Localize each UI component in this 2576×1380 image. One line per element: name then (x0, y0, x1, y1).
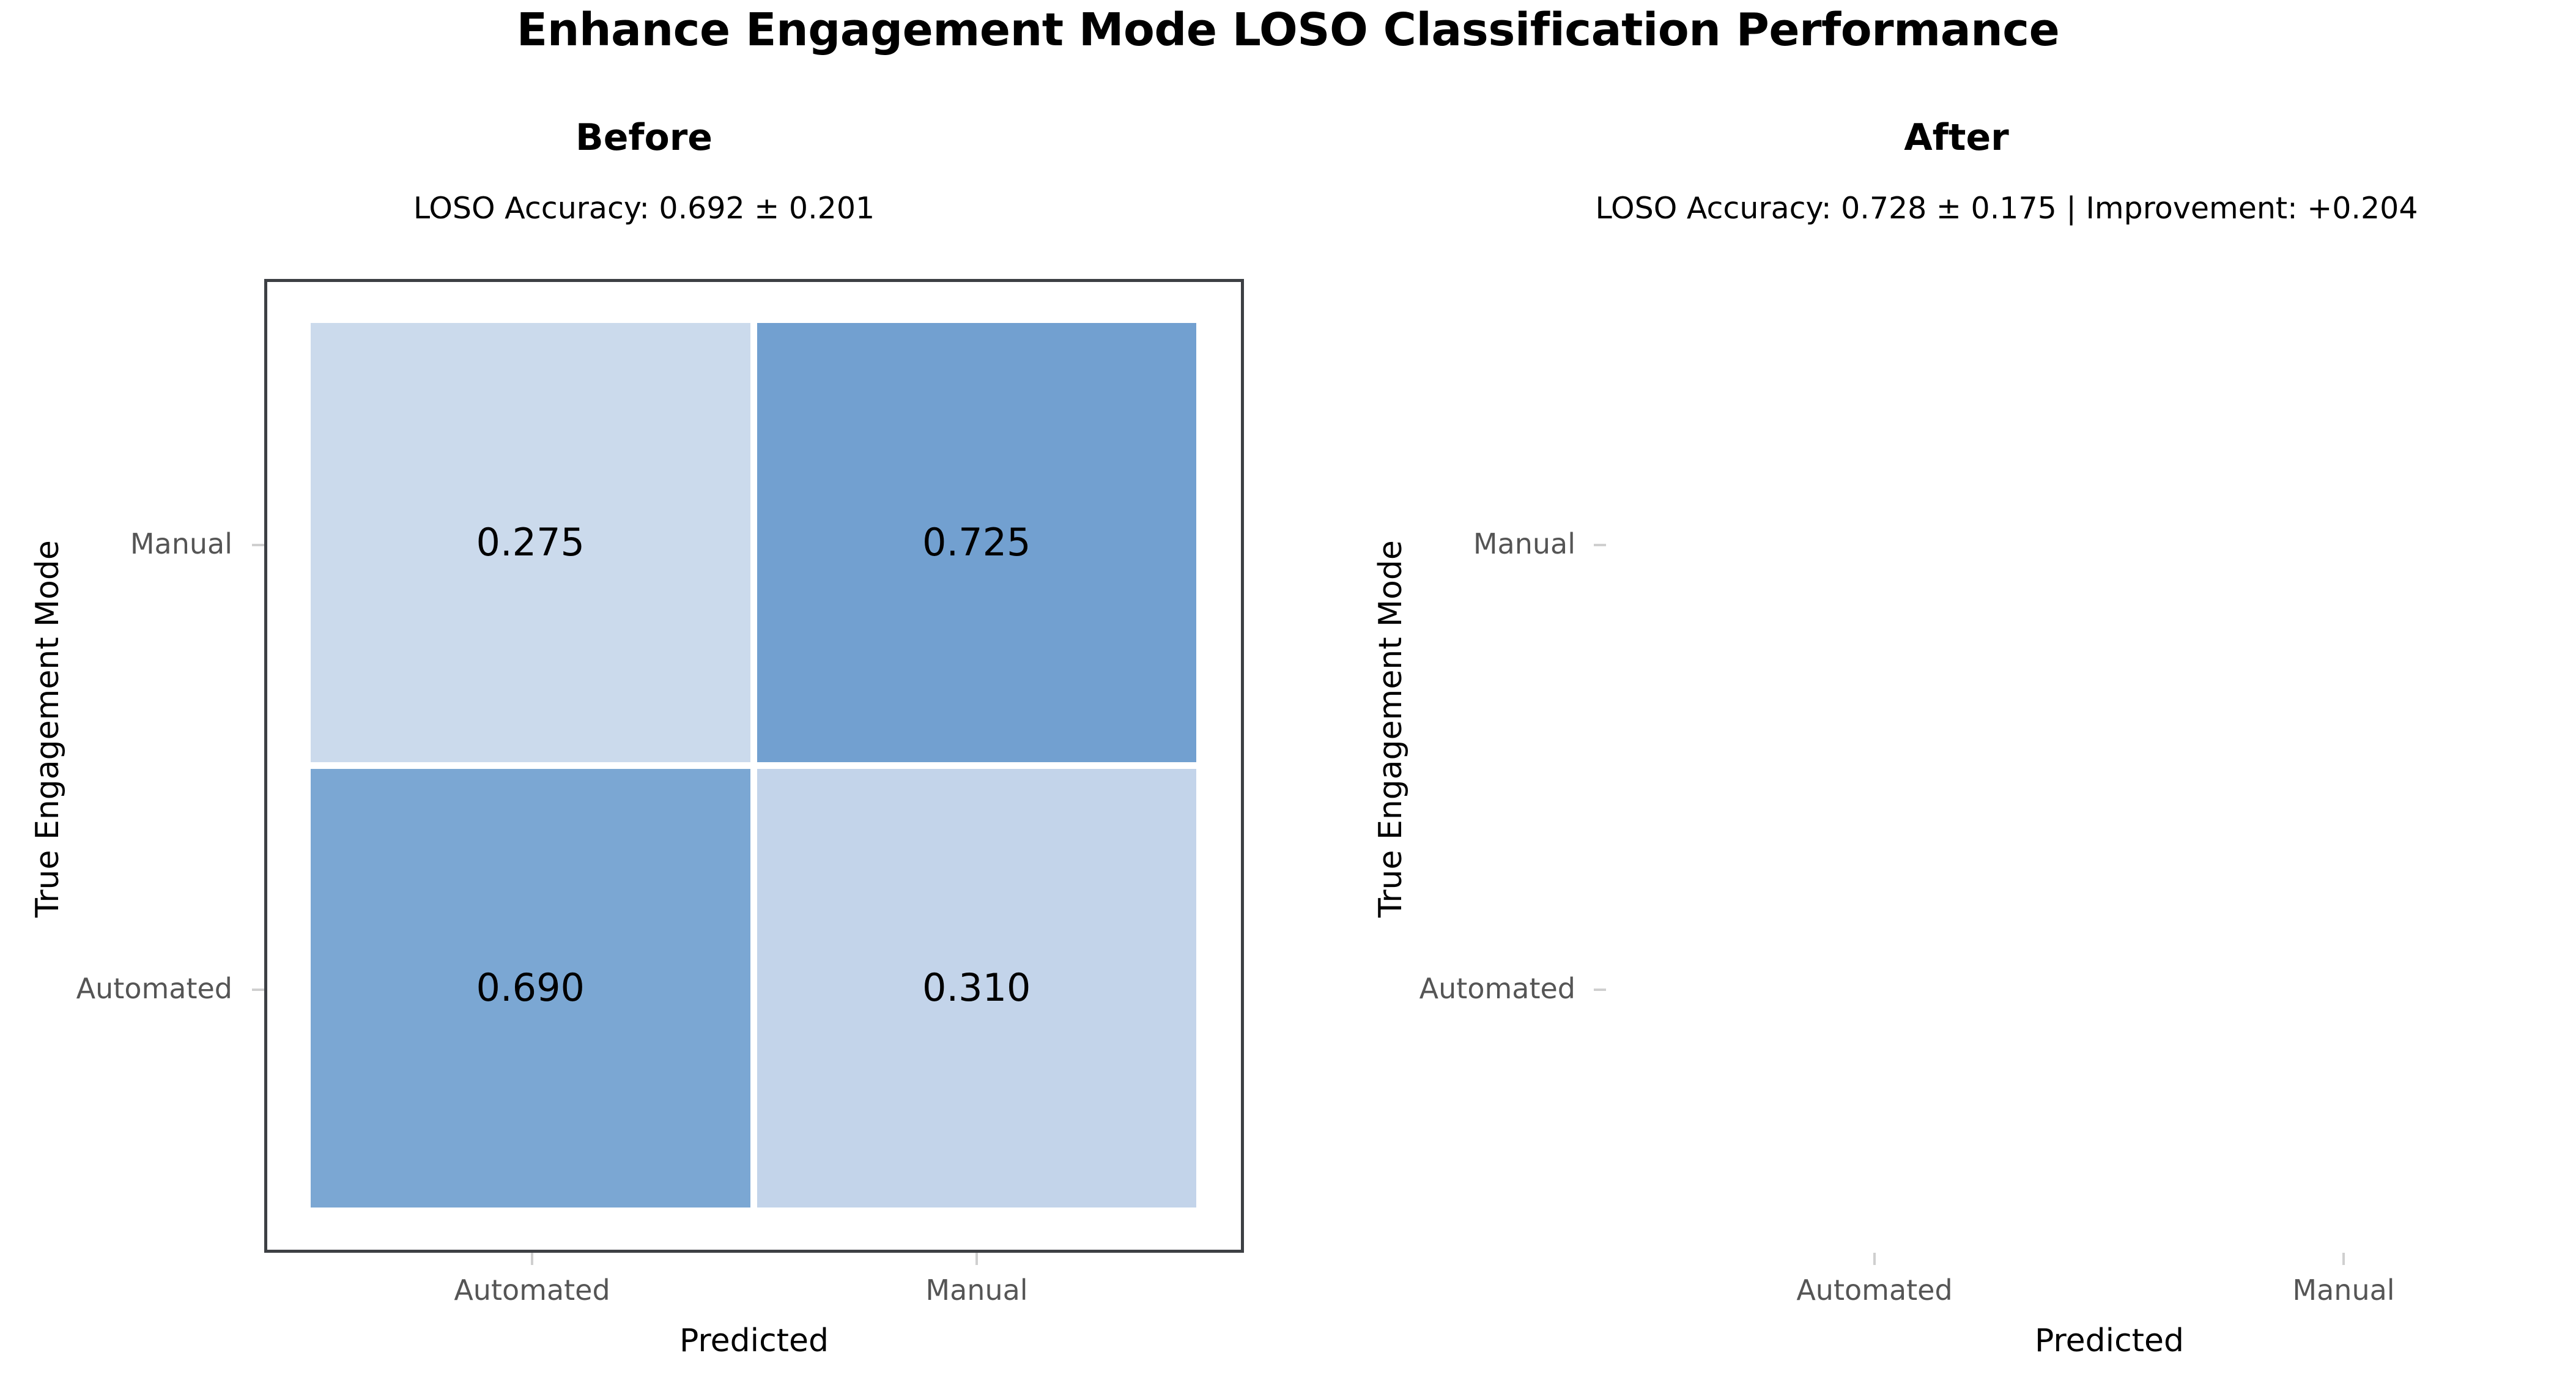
panel-title-before: Before (0, 116, 1288, 159)
xtick-label-automated: Automated (454, 1274, 610, 1307)
ytick-mark (1594, 544, 1606, 546)
xtick-mark (975, 1253, 978, 1265)
ytick-mark (252, 989, 264, 991)
panel-subtitle-after: LOSO Accuracy: 0.728 ± 0.175 | Improveme… (1363, 191, 2576, 226)
matrix-cell[interactable]: 0.310 (757, 769, 1197, 1208)
matrix-cell[interactable]: 0.275 (311, 323, 750, 762)
matrix-cell-value: 0.725 (922, 524, 1031, 562)
y-axis-label: True Engagement Mode (29, 540, 66, 918)
panel-after: After LOSO Accuracy: 0.728 ± 0.175 | Imp… (1288, 0, 2576, 1380)
xtick-label-automated: Automated (1796, 1274, 1952, 1307)
matrix-cell[interactable]: 0.725 (757, 323, 1197, 762)
matrix-cell-value: 0.310 (922, 969, 1031, 1007)
panel-before: Before LOSO Accuracy: 0.692 ± 0.201 0.27… (0, 0, 1288, 1380)
y-axis-label: True Engagement Mode (1372, 540, 1409, 918)
panel-title-after: After (1312, 116, 2576, 159)
matrix-cell-value: 0.690 (476, 969, 585, 1007)
x-axis-label: Predicted (2035, 1322, 2184, 1359)
panel-subtitle-before: LOSO Accuracy: 0.692 ± 0.201 (0, 191, 1288, 226)
ytick-label-automated: Automated (1361, 972, 1575, 1005)
ytick-mark (252, 544, 264, 546)
matrix-cell[interactable]: 0.690 (311, 769, 750, 1208)
xtick-mark (2342, 1253, 2345, 1265)
xtick-label-manual: Manual (2292, 1274, 2394, 1307)
xtick-mark (1873, 1253, 1876, 1265)
ytick-label-automated: Automated (18, 972, 232, 1005)
ytick-mark (1594, 989, 1606, 991)
confusion-matrix-before: 0.275 0.725 0.690 0.310 (311, 323, 1196, 1207)
matrix-cell-value: 0.275 (476, 524, 585, 562)
xtick-label-manual: Manual (925, 1274, 1027, 1307)
xtick-mark (531, 1253, 533, 1265)
x-axis-label: Predicted (679, 1322, 829, 1359)
